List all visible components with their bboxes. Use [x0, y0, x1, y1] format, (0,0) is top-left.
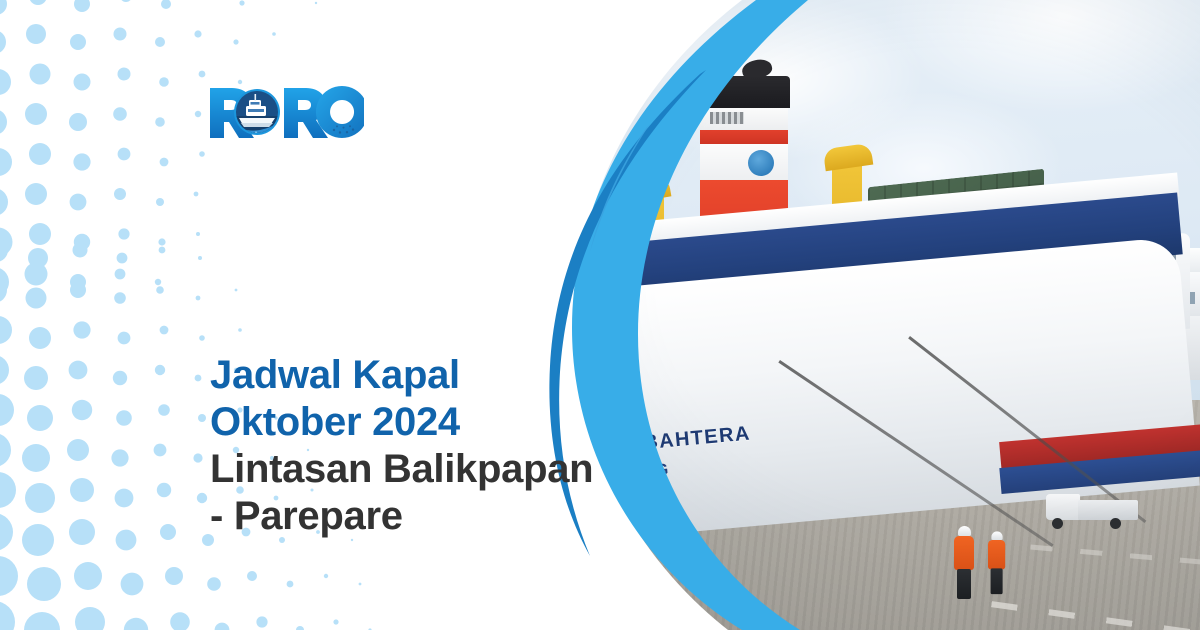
logo-ship-circle-mark	[234, 89, 280, 135]
headline-block: Jadwal Kapal Oktober 2024 Lintasan Balik…	[210, 352, 680, 540]
headline-line-3: Lintasan Balikpapan	[210, 446, 680, 493]
promo-banner: SWARNA BAHTERA SEMARANG	[0, 0, 1200, 630]
headline-line-4: - Parepare	[210, 493, 680, 540]
headline-line-2: Oktober 2024	[210, 399, 680, 446]
logo-letter-o-2	[316, 86, 364, 138]
roro-logo[interactable]	[208, 82, 364, 140]
headline-line-1: Jadwal Kapal	[210, 352, 680, 399]
